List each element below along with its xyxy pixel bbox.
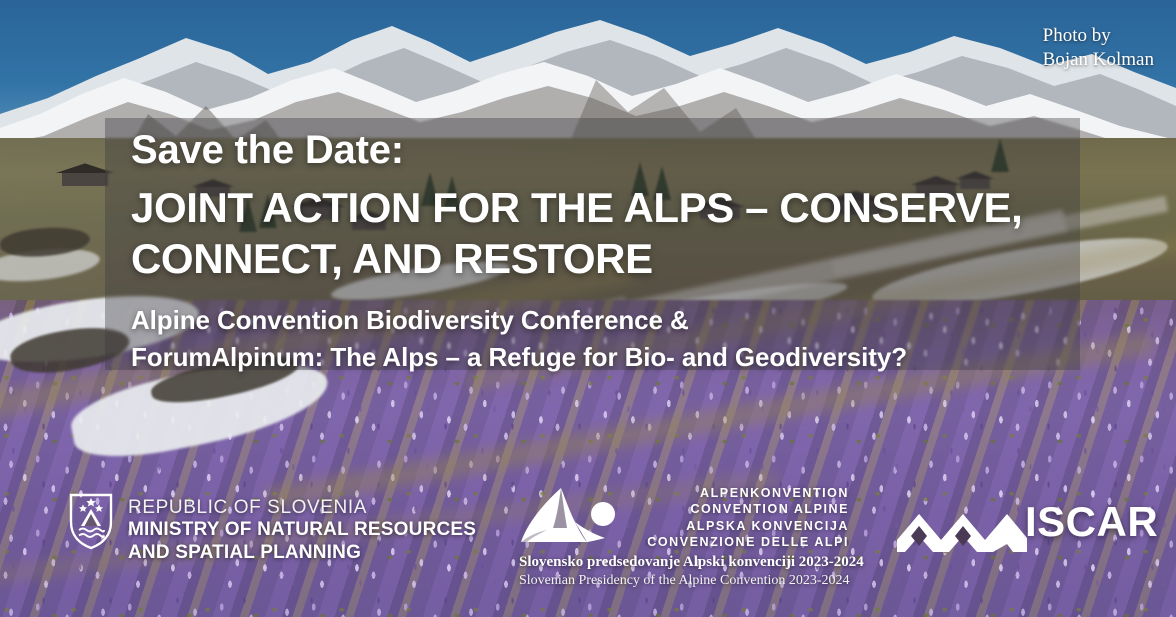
ministry-label-line1: MINISTRY OF NATURAL RESOURCES	[128, 518, 476, 541]
alpine-convention-top-row: ALPENKONVENTION CONVENTION ALPINE ALPSKA…	[519, 482, 849, 550]
slovenia-coat-of-arms-icon	[68, 492, 114, 550]
iscar-mountain-icon	[897, 492, 1027, 552]
alpine-hut	[62, 172, 108, 186]
alpine-convention-lang-sl: ALPSKA KONVENCIJA	[629, 518, 849, 534]
iscar-logo-block: ISCAR	[897, 492, 1158, 552]
alpine-convention-lang-fr: CONVENTION ALPINE	[629, 501, 849, 517]
event-title-line1: JOINT ACTION FOR THE ALPS – CONSERVE,	[131, 182, 1091, 233]
alpine-convention-logo-block: ALPENKONVENTION CONVENTION ALPINE ALPSKA…	[519, 482, 849, 590]
presidency-caption-sl: Slovensko predsedovanje Alpski konvencij…	[519, 553, 849, 572]
alpine-convention-mountain-icon	[519, 484, 623, 546]
alpine-convention-lang-de: ALPENKONVENTION	[629, 485, 849, 501]
poster-save-the-date: Photo by Bojan Kolman Save the Date: JOI…	[0, 0, 1176, 617]
event-title: JOINT ACTION FOR THE ALPS – CONSERVE, CO…	[131, 182, 1091, 284]
event-subtitle-line1: Alpine Convention Biodiversity Conferenc…	[131, 302, 1091, 338]
alpine-convention-language-list: ALPENKONVENTION CONVENTION ALPINE ALPSKA…	[629, 482, 849, 550]
government-logo-block: REPUBLIC OF SLOVENIA MINISTRY OF NATURAL…	[68, 492, 476, 565]
alpine-convention-lang-it: CONVENZIONE DELLE ALPI	[629, 534, 849, 550]
photo-credit-line2: Bojan Kolman	[1043, 48, 1154, 72]
event-subtitle: Alpine Convention Biodiversity Conferenc…	[131, 302, 1091, 375]
photo-credit: Photo by Bojan Kolman	[1043, 24, 1154, 73]
presidency-caption-en: Slovenian Presidency of the Alpine Conve…	[519, 572, 849, 590]
republic-of-slovenia-label: REPUBLIC OF SLOVENIA	[128, 497, 476, 518]
event-subtitle-line2: ForumAlpinum: The Alps – a Refuge for Bi…	[131, 339, 1091, 375]
government-logo-text: REPUBLIC OF SLOVENIA MINISTRY OF NATURAL…	[128, 492, 476, 565]
photo-credit-line1: Photo by	[1043, 24, 1154, 48]
ministry-label-line2: AND SPATIAL PLANNING	[128, 541, 476, 564]
footer-logo-row: REPUBLIC OF SLOVENIA MINISTRY OF NATURAL…	[0, 480, 1176, 580]
headline-block: Save the Date: JOINT ACTION FOR THE ALPS…	[131, 128, 1091, 375]
save-the-date-kicker: Save the Date:	[131, 128, 1091, 173]
presidency-caption: Slovensko predsedovanje Alpski konvencij…	[519, 553, 849, 590]
event-title-line2: CONNECT, AND RESTORE	[131, 233, 1091, 284]
iscar-wordmark: ISCAR	[1025, 498, 1158, 546]
